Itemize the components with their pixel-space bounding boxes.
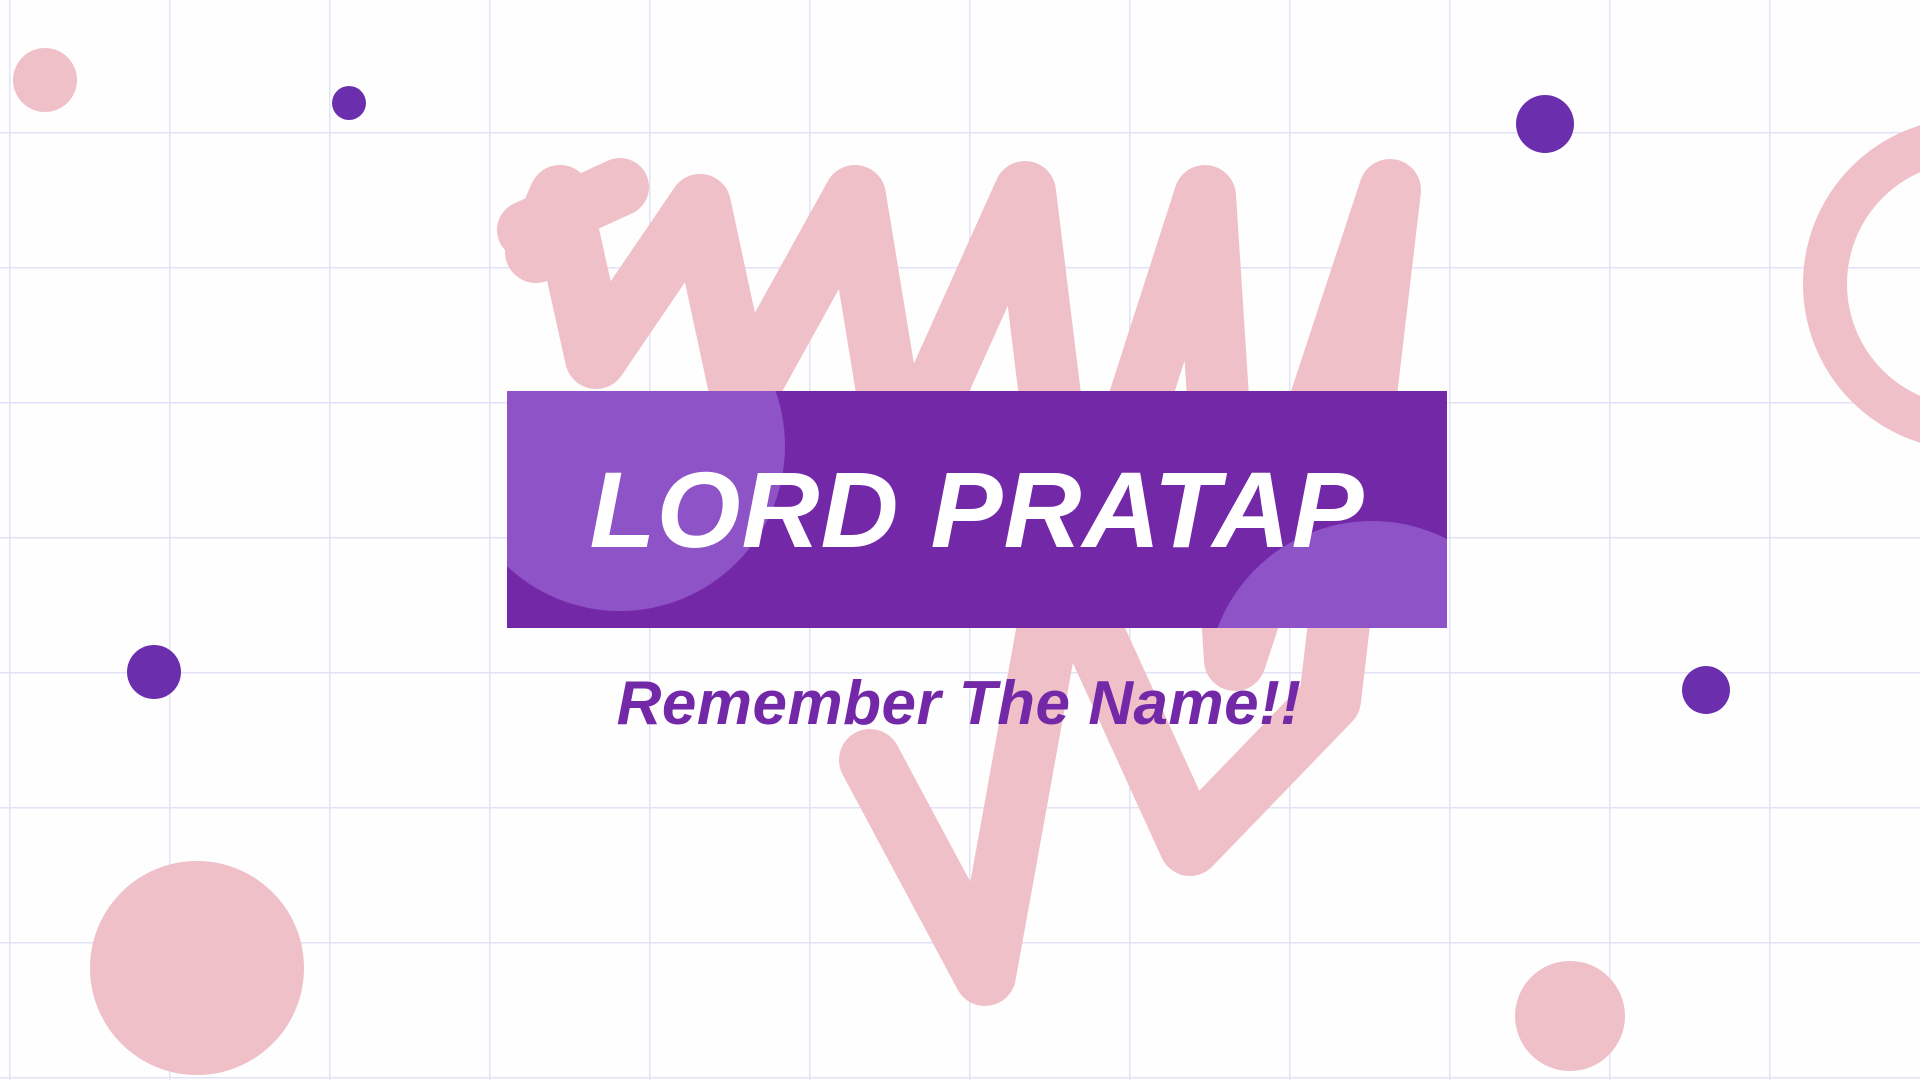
purple-dot-top-right (1516, 95, 1574, 153)
pink-circle-bottom-left (90, 861, 304, 1075)
pink-dot-bottom-right (1515, 961, 1625, 1071)
pink-dot-top-left (13, 48, 77, 112)
poster-canvas: LORD PRATAP Remember The Name!! (0, 0, 1920, 1080)
purple-dot-top-left (332, 86, 366, 120)
page-subtitle: Remember The Name!! (0, 668, 1919, 739)
page-title: LORD PRATAP (507, 456, 1447, 564)
title-banner: LORD PRATAP (507, 391, 1447, 628)
